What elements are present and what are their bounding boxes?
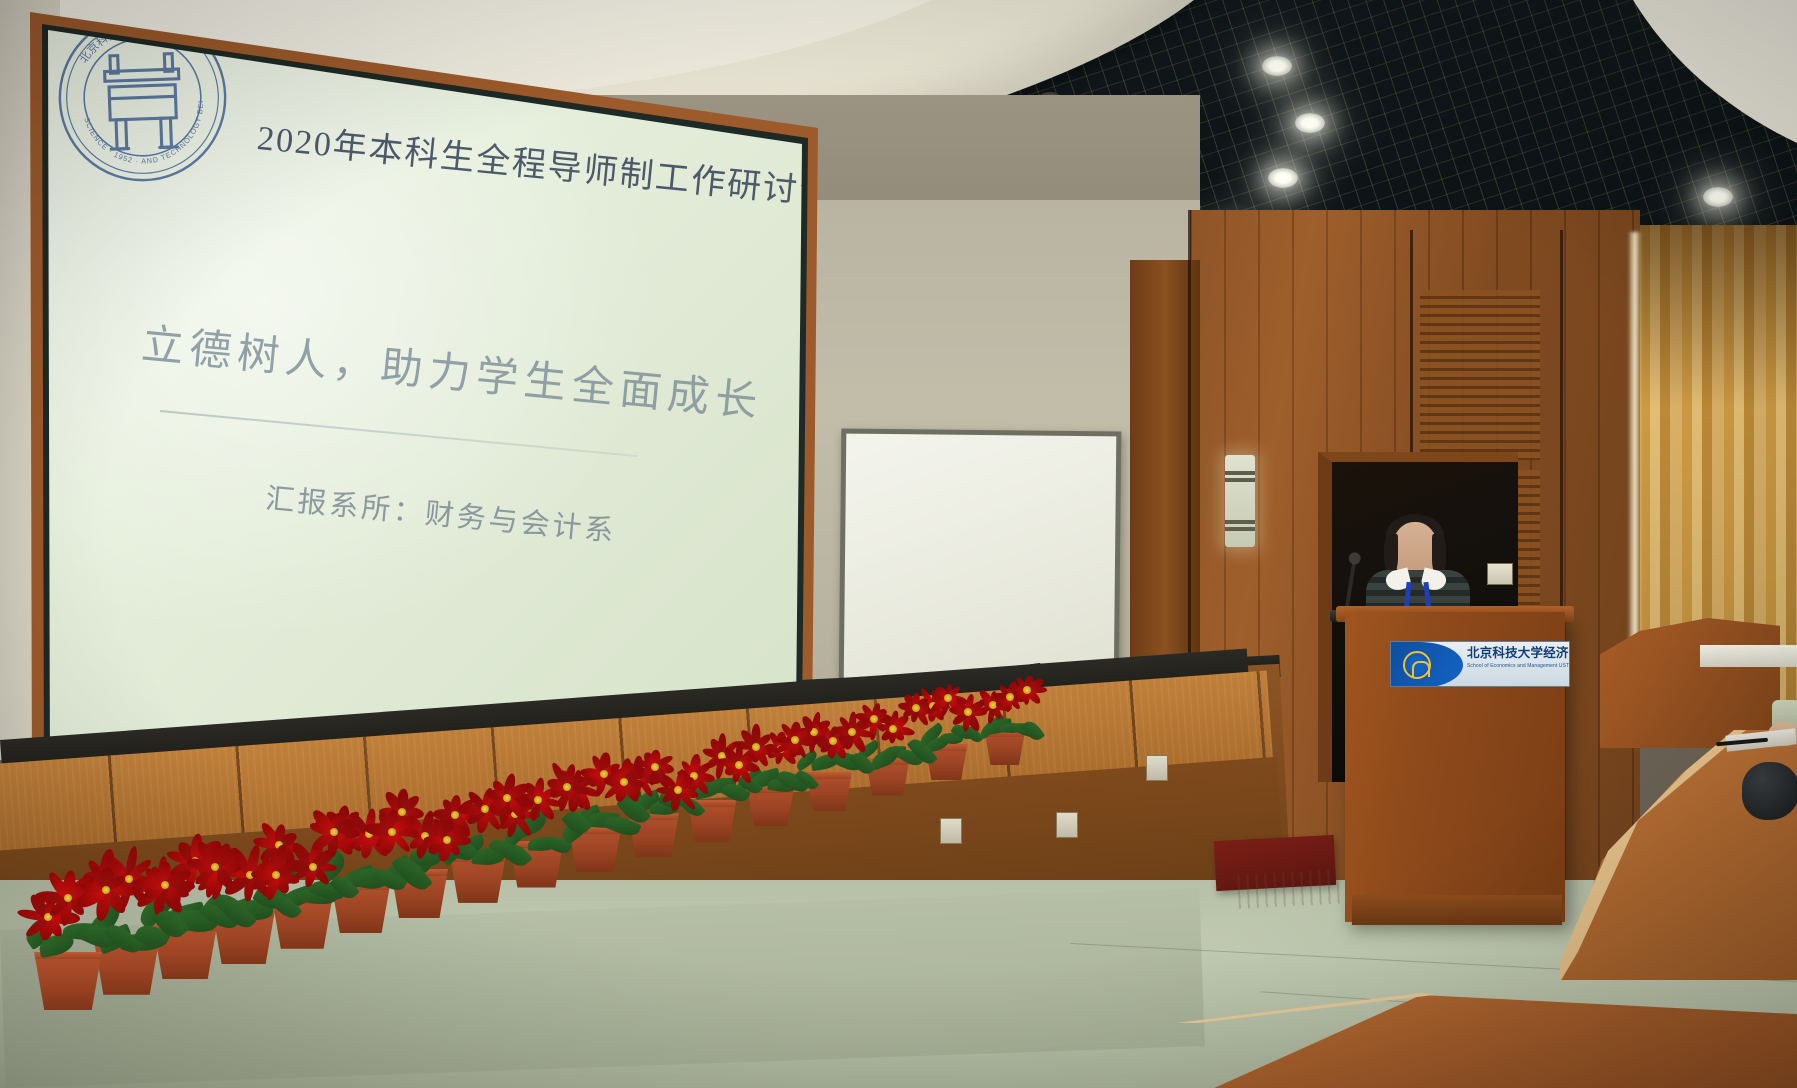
podium-sign-text: 北京科技大学经济管理学院 School of Economics and Man…: [1467, 647, 1569, 669]
poinsettia-center: [161, 881, 169, 889]
poinsettia-bloom: [893, 685, 939, 731]
poinsettia-center: [620, 778, 628, 786]
power-outlet-2[interactable]: [1056, 812, 1078, 838]
presenter-hair-left: [1384, 534, 1398, 574]
poinsettia-bloom: [421, 813, 474, 866]
slide-heading: 立德树人，助力学生全面成长: [139, 310, 742, 427]
podium-sign-en: School of Economics and Management USTB: [1467, 664, 1569, 670]
ceiling-downlight-3: [1268, 168, 1298, 188]
poinsettia-bloom: [948, 692, 988, 732]
poinsettia-center: [443, 836, 451, 844]
ceiling-downlight-1: [1262, 56, 1292, 76]
podium-sign-cn: 北京科技大学经济管理学院: [1467, 647, 1569, 661]
slide-subtitle: 汇报系所：财务与会计系: [264, 475, 726, 560]
wall-switch-plate[interactable]: [1487, 563, 1513, 585]
power-outlet-1[interactable]: [1146, 755, 1168, 781]
ceiling-downlight-5: [1703, 187, 1733, 207]
poinsettia-center: [674, 786, 682, 794]
power-outlet-3[interactable]: [940, 818, 962, 844]
whiteboard-surface[interactable]: [844, 434, 1117, 689]
poinsettia-bloom: [1010, 672, 1044, 706]
flower-pot: [983, 730, 1026, 765]
poinsettia-plant: [10, 860, 130, 1010]
wall-seam-3: [1560, 230, 1563, 650]
poinsettia-bloom: [72, 856, 140, 924]
poinsettia-bloom: [306, 804, 362, 860]
poinsettia-center: [563, 783, 571, 791]
podium-base: [1352, 895, 1562, 925]
poinsettia-center: [912, 704, 920, 712]
poinsettia-bloom: [829, 710, 874, 755]
poinsettia-center: [309, 863, 317, 871]
poinsettia-bloom: [130, 851, 199, 920]
poinsettia-center: [330, 828, 338, 836]
flower-pot: [32, 952, 104, 1010]
poinsettia-bloom: [540, 760, 593, 813]
poinsettia-bloom: [774, 718, 817, 761]
grey-case-on-floor[interactable]: [1237, 869, 1345, 909]
poinsettia-bloom: [714, 740, 764, 790]
poinsettia-bloom: [250, 849, 302, 901]
poinsettia-bloom: [654, 767, 701, 814]
poinsettia-bloom: [478, 769, 535, 826]
black-bag[interactable]: [1742, 762, 1797, 820]
poinsettia-center: [848, 728, 856, 736]
far-desk-surface: [1700, 645, 1797, 667]
lecture-hall-photo: 北京科技大学 SCIENCE · 1952 · AND TECHNOLOGY B…: [0, 0, 1797, 1088]
ustb-sem-emblem-icon: [1403, 651, 1431, 679]
wood-slat-panel-upper: [1420, 290, 1540, 460]
slide-divider: [160, 410, 638, 457]
wall-sconce-light: [1225, 455, 1255, 547]
whiteboard[interactable]: [839, 429, 1122, 694]
poinsettia-bloom: [364, 803, 422, 861]
podium-sign: 北京科技大学经济管理学院 School of Economics and Man…: [1390, 641, 1570, 687]
ceiling-downlight-2: [1295, 113, 1325, 133]
poinsettia-center: [102, 886, 110, 894]
poinsettia-bloom: [598, 756, 649, 807]
